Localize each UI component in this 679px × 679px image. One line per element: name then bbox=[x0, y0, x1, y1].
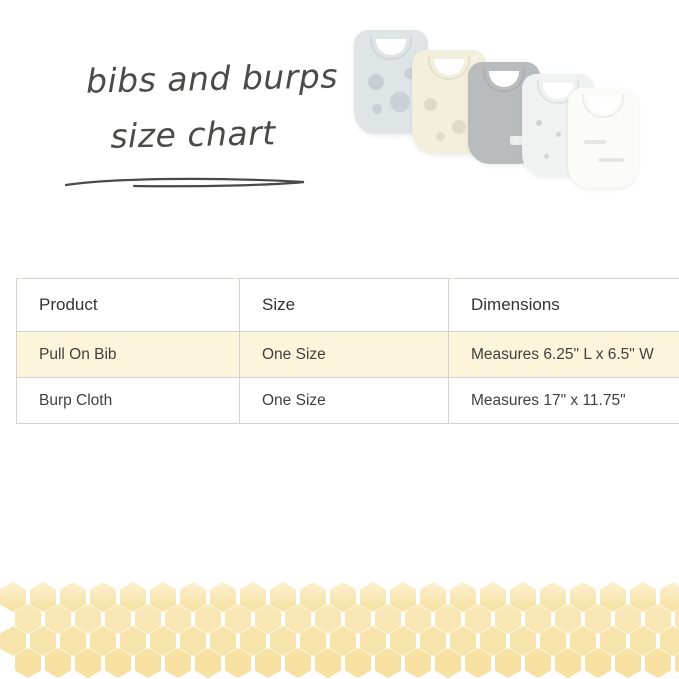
column-header-dimensions: Dimensions bbox=[449, 279, 679, 332]
honeycomb-footer-decoration bbox=[0, 554, 679, 679]
bib-pattern-dot bbox=[368, 74, 384, 90]
bib-pattern-stroke bbox=[584, 140, 606, 144]
size-chart-page: bibs and burps size chart bbox=[0, 0, 679, 679]
table-row: Pull On Bib One Size Measures 6.25" L x … bbox=[17, 332, 679, 378]
page-title: bibs and burps size chart bbox=[62, 58, 362, 156]
cell-product: Pull On Bib bbox=[17, 332, 240, 378]
bib-lineup-illustration bbox=[340, 22, 630, 202]
bib-pattern-dot bbox=[372, 104, 382, 114]
table-header-row: Product Size Dimensions bbox=[17, 279, 679, 332]
bib-pattern-dot bbox=[452, 120, 466, 134]
bib-pattern-dot bbox=[536, 120, 542, 126]
bib-pattern-stroke bbox=[598, 158, 624, 162]
size-chart-table: Product Size Dimensions Pull On Bib One … bbox=[16, 278, 679, 424]
bib-pattern-dot bbox=[556, 132, 561, 137]
bib-white-textured bbox=[568, 88, 638, 188]
cell-size: One Size bbox=[240, 378, 449, 424]
table-row: Burp Cloth One Size Measures 17" x 11.75… bbox=[17, 378, 679, 424]
column-header-product: Product bbox=[17, 279, 240, 332]
cell-dimensions: Measures 6.25" L x 6.5" W bbox=[449, 332, 679, 378]
page-title-line-1: bibs and burps bbox=[62, 55, 363, 103]
honeycomb-pattern-icon bbox=[0, 554, 679, 679]
cell-product: Burp Cloth bbox=[17, 378, 240, 424]
column-header-size: Size bbox=[240, 279, 449, 332]
title-underline-flourish bbox=[64, 176, 312, 190]
bib-pattern-dot bbox=[544, 154, 549, 159]
bib-pattern-dot bbox=[436, 132, 445, 141]
bib-pattern-dot bbox=[424, 98, 437, 111]
cell-dimensions: Measures 17" x 11.75" bbox=[449, 378, 679, 424]
cell-size: One Size bbox=[240, 332, 449, 378]
page-title-line-2: size chart bbox=[24, 110, 363, 159]
bib-pattern-dot bbox=[390, 92, 410, 112]
